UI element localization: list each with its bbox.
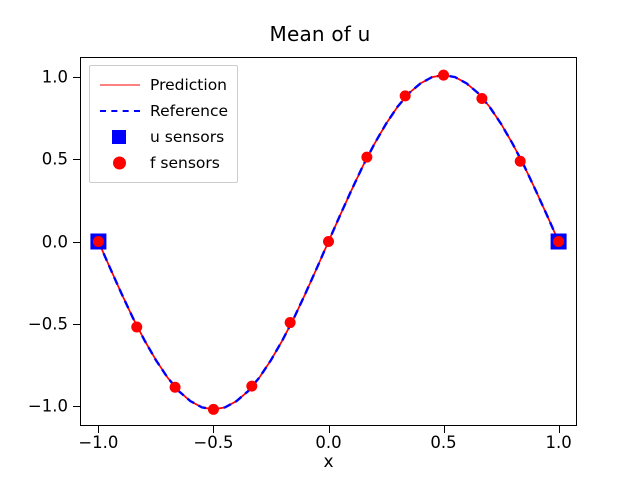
x-tick-label: 1.0 (514, 433, 604, 452)
marker-f-sensors (170, 382, 181, 393)
y-tick-label: 1.0 (8, 67, 68, 86)
chart-legend: Prediction Reference u sensors f sensors (89, 65, 238, 183)
legend-item-u-sensors: u sensors (98, 124, 228, 150)
x-tick-mark (329, 426, 330, 433)
legend-label-f-sensors: f sensors (142, 154, 220, 172)
legend-key-circle-marker-icon (98, 152, 142, 174)
x-tick-label: −1.0 (53, 433, 143, 452)
legend-item-reference: Reference (98, 98, 228, 124)
marker-f-sensors (246, 381, 257, 392)
y-tick-label: 0.5 (8, 150, 68, 169)
legend-label-reference: Reference (142, 102, 228, 120)
legend-item-f-sensors: f sensors (98, 150, 228, 176)
marker-f-sensors (515, 156, 526, 167)
marker-f-sensors (131, 322, 142, 333)
marker-f-sensors (323, 236, 334, 247)
marker-f-sensors (361, 152, 372, 163)
x-axis-label: x (80, 452, 577, 472)
y-tick-mark (73, 324, 80, 325)
y-tick-mark (73, 242, 80, 243)
y-tick-mark (73, 159, 80, 160)
legend-key-solid-line-icon (98, 74, 142, 96)
y-tick-mark (73, 406, 80, 407)
legend-key-square-marker-icon (98, 126, 142, 148)
marker-f-sensors (476, 93, 487, 104)
x-tick-label: 0.0 (284, 433, 374, 452)
chart-title: Mean of u (0, 22, 640, 46)
x-tick-mark (213, 426, 214, 433)
x-tick-mark (98, 426, 99, 433)
chart-root: Mean of u −1.0−0.50.00.51.0 −1.0−0.50.00… (0, 0, 640, 480)
marker-f-sensors (208, 404, 219, 415)
x-tick-mark (444, 426, 445, 433)
legend-key-dashed-line-icon (98, 100, 142, 122)
legend-item-prediction: Prediction (98, 72, 228, 98)
legend-label-u-sensors: u sensors (142, 128, 224, 146)
y-tick-label: −0.5 (8, 314, 68, 333)
y-tick-label: −1.0 (8, 397, 68, 416)
y-tick-label: 0.0 (8, 232, 68, 251)
marker-f-sensors (93, 236, 104, 247)
marker-f-sensors (285, 317, 296, 328)
marker-f-sensors (553, 236, 564, 247)
x-tick-mark (559, 426, 560, 433)
legend-label-prediction: Prediction (142, 76, 227, 94)
y-tick-mark (73, 77, 80, 78)
marker-f-sensors (438, 70, 449, 81)
x-tick-label: −0.5 (168, 433, 258, 452)
x-tick-label: 0.5 (399, 433, 489, 452)
marker-f-sensors (400, 90, 411, 101)
